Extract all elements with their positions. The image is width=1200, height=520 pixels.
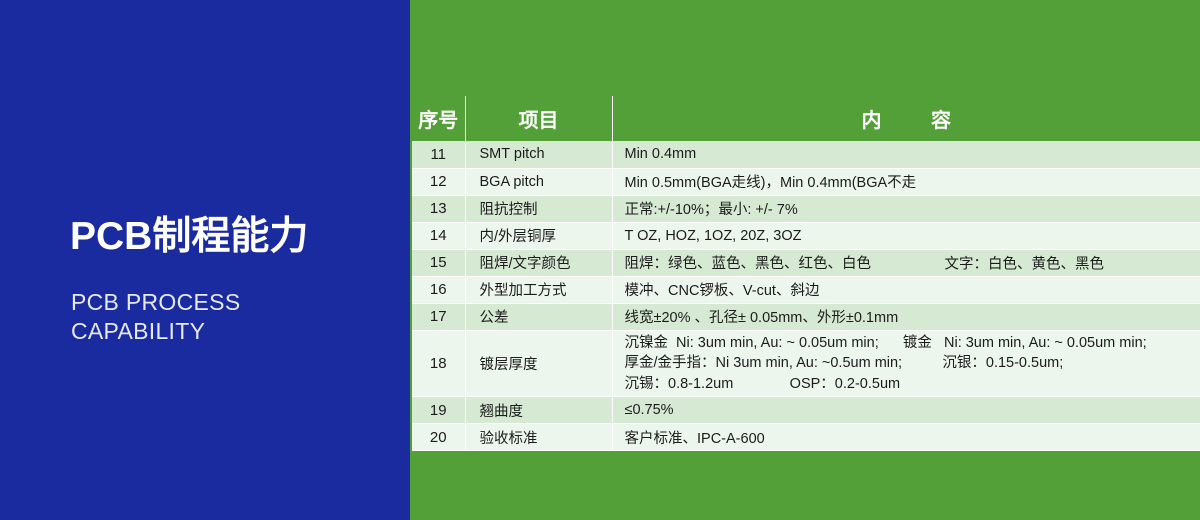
table-row: 12 BGA pitch Min 0.5mm(BGA走线)，Min 0.4mm(…	[412, 168, 1200, 195]
cell-seq: 13	[412, 195, 465, 222]
cell-content: Min 0.5mm(BGA走线)，Min 0.4mm(BGA不走	[612, 168, 1200, 195]
column-header-item: 项目	[465, 96, 612, 141]
cell-seq: 19	[412, 397, 465, 424]
cell-item: 镀层厚度	[465, 330, 612, 397]
table-row: 18 镀层厚度 沉镍金 Ni: 3um min, Au: ~ 0.05um mi…	[412, 330, 1200, 397]
title-panel: PCB制程能力 PCB PROCESS CAPABILITY	[0, 0, 410, 520]
cell-seq: 15	[412, 249, 465, 276]
cell-seq: 18	[412, 330, 465, 397]
table-row: 14 内/外层铜厚 T OZ, HOZ, 1OZ, 20Z, 3OZ	[412, 222, 1200, 249]
cell-seq: 12	[412, 168, 465, 195]
cell-item: 公差	[465, 303, 612, 330]
page-subtitle-line-1: PCB PROCESS	[71, 288, 371, 317]
page-subtitle-line-2: CAPABILITY	[71, 317, 371, 346]
cell-content: Min 0.4mm	[612, 141, 1200, 168]
cell-content-line-1: 沉镍金 Ni: 3um min, Au: ~ 0.05um min; 镀金 Ni…	[625, 333, 1200, 354]
cell-content-secondary: 文字：白色、黄色、黑色	[945, 252, 1105, 273]
cell-item: 阻焊/文字颜色	[465, 249, 612, 276]
table-row: 17 公差 线宽±20% 、孔径± 0.05mm、外形±0.1mm	[412, 303, 1200, 330]
table-header-row: 序号 项目 内 容	[412, 96, 1200, 141]
table-row: 11 SMT pitch Min 0.4mm	[412, 141, 1200, 168]
table-row: 19 翘曲度 ≤0.75%	[412, 397, 1200, 424]
cell-seq: 16	[412, 276, 465, 303]
cell-content: 线宽±20% 、孔径± 0.05mm、外形±0.1mm	[612, 303, 1200, 330]
table-row: 13 阻抗控制 正常:+/-10%；最小: +/- 7%	[412, 195, 1200, 222]
cell-seq: 11	[412, 141, 465, 168]
cell-content: 沉镍金 Ni: 3um min, Au: ~ 0.05um min; 镀金 Ni…	[612, 330, 1200, 397]
cell-item: 翘曲度	[465, 397, 612, 424]
cell-content-line-2: 厚金/金手指：Ni 3um min, Au: ~0.5um min; 沉银：0.…	[625, 353, 1200, 374]
page-subtitle: PCB PROCESS CAPABILITY	[71, 288, 371, 347]
cell-item: BGA pitch	[465, 168, 612, 195]
cell-item: 阻抗控制	[465, 195, 612, 222]
spec-table-container: 序号 项目 内 容 11 SMT pitch Min 0.4mm 12 BGA …	[412, 96, 1200, 443]
cell-content: 正常:+/-10%；最小: +/- 7%	[612, 195, 1200, 222]
cell-content: T OZ, HOZ, 1OZ, 20Z, 3OZ	[612, 222, 1200, 249]
cell-content-line-3: 沉锡：0.8-1.2um OSP：0.2-0.5um	[625, 374, 1200, 395]
cell-item: 内/外层铜厚	[465, 222, 612, 249]
slide-canvas: PCB制程能力 PCB PROCESS CAPABILITY 序号 项目 内 容	[0, 0, 1200, 520]
cell-content-multiline: 沉镍金 Ni: 3um min, Au: ~ 0.05um min; 镀金 Ni…	[625, 333, 1200, 395]
cell-content-primary: 阻焊：绿色、蓝色、黑色、红色、白色	[625, 256, 872, 272]
column-header-content: 内 容	[612, 96, 1200, 141]
cell-seq: 14	[412, 222, 465, 249]
cell-content: 阻焊：绿色、蓝色、黑色、红色、白色 文字：白色、黄色、黑色	[612, 249, 1200, 276]
cell-content: 模冲、CNC锣板、V-cut、斜边	[612, 276, 1200, 303]
cell-item: 验收标准	[465, 424, 612, 451]
pcb-capability-table: 序号 项目 内 容 11 SMT pitch Min 0.4mm 12 BGA …	[412, 96, 1200, 451]
column-header-seq: 序号	[412, 96, 465, 141]
table-row: 20 验收标准 客户标准、IPC-A-600	[412, 424, 1200, 451]
page-title: PCB制程能力	[70, 217, 308, 256]
cell-seq: 20	[412, 424, 465, 451]
panel-divider	[408, 0, 410, 520]
cell-content: 客户标准、IPC-A-600	[612, 424, 1200, 451]
cell-seq: 17	[412, 303, 465, 330]
table-row: 15 阻焊/文字颜色 阻焊：绿色、蓝色、黑色、红色、白色 文字：白色、黄色、黑色	[412, 249, 1200, 276]
table-row: 16 外型加工方式 模冲、CNC锣板、V-cut、斜边	[412, 276, 1200, 303]
cell-content: ≤0.75%	[612, 397, 1200, 424]
cell-item: SMT pitch	[465, 141, 612, 168]
column-header-content-label: 内 容	[839, 110, 973, 132]
cell-item: 外型加工方式	[465, 276, 612, 303]
